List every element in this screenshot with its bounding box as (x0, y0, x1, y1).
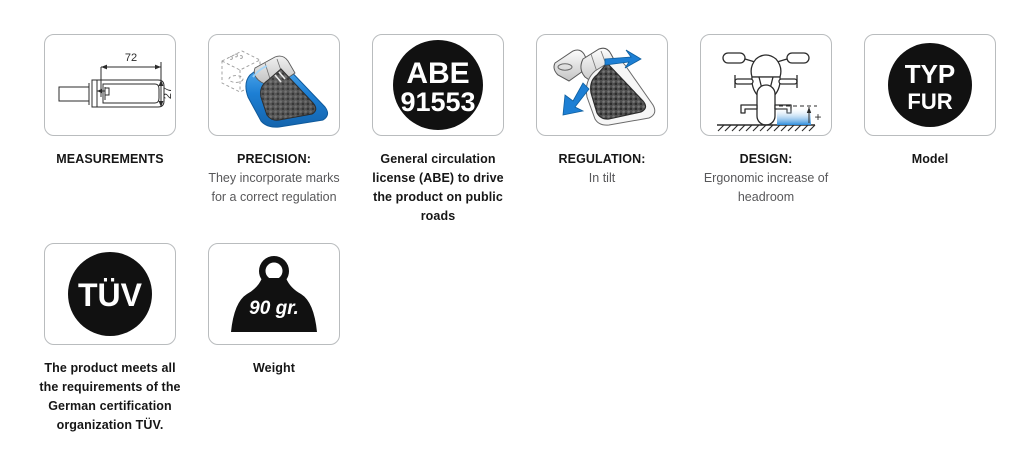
feature-card-regulation[interactable] (536, 34, 668, 136)
feature-weight: 90 gr. Weight (208, 243, 340, 435)
feature-sheet: 72 27 MEASUREMENTS (0, 0, 1024, 465)
tuv-badge-label: TÜV (78, 277, 143, 313)
caption-tuv: The product meets all the requirements o… (39, 359, 181, 435)
feature-card-weight[interactable]: 90 gr. (208, 243, 340, 345)
feature-card-abe[interactable]: ABE 91553 (372, 34, 504, 136)
feature-card-tuv[interactable]: TÜV (44, 243, 176, 345)
feature-title: Model (859, 150, 1001, 169)
caption-model: Model (859, 150, 1001, 169)
caption-abe: General circulation license (ABE) to dri… (367, 150, 509, 226)
model-badge-line1: TYP (905, 59, 956, 89)
motorcycle-rear-headroom-icon: + (701, 35, 831, 135)
caption-measurements: MEASUREMENTS (39, 150, 181, 169)
abe-badge-icon: ABE 91553 (373, 35, 503, 135)
model-badge-line2: FUR (907, 89, 952, 114)
abe-badge-line2: 91553 (400, 87, 475, 117)
feature-subtitle: In tilt (531, 169, 673, 188)
feature-measurements: 72 27 MEASUREMENTS (44, 34, 176, 226)
feature-title: Weight (203, 359, 345, 378)
feature-model: TYP FUR Model (864, 34, 996, 226)
caption-regulation: REGULATION: In tilt (531, 150, 673, 188)
feature-card-model[interactable]: TYP FUR (864, 34, 996, 136)
feature-title: MEASUREMENTS (39, 150, 181, 169)
feature-design: + DESIGN: Ergonomic increase of headroom (700, 34, 832, 226)
feature-title: The product meets all the requirements o… (39, 359, 181, 435)
feature-title: REGULATION: (531, 150, 673, 169)
feature-subtitle: Ergonomic increase of headroom (695, 169, 837, 207)
caption-precision: PRECISION: They incorporate marks for a … (203, 150, 345, 207)
feature-regulation: REGULATION: In tilt (536, 34, 668, 226)
feature-precision: PRECISION: They incorporate marks for a … (208, 34, 340, 226)
caption-design: DESIGN: Ergonomic increase of headroom (695, 150, 837, 207)
feature-subtitle: They incorporate marks for a correct reg… (203, 169, 345, 207)
weight-kettlebell-icon: 90 gr. (209, 244, 339, 344)
feature-title: General circulation license (ABE) to dri… (367, 150, 509, 226)
abe-badge-line1: ABE (406, 57, 469, 90)
feature-tuv: TÜV The product meets all the requiremen… (44, 243, 176, 435)
weight-value-label: 90 gr. (249, 298, 299, 319)
feature-abe: ABE 91553 General circulation license (A… (372, 34, 504, 226)
headroom-plus-label: + (814, 110, 821, 124)
feature-grid-row-2: TÜV The product meets all the requiremen… (44, 243, 992, 435)
feature-title: DESIGN: (695, 150, 837, 169)
feature-grid-row-1: 72 27 MEASUREMENTS (44, 34, 992, 226)
feature-card-measurements[interactable]: 72 27 (44, 34, 176, 136)
feature-title: PRECISION: (203, 150, 345, 169)
footpeg-precision-icon (209, 35, 339, 135)
feature-card-precision[interactable] (208, 34, 340, 136)
feature-card-design[interactable]: + (700, 34, 832, 136)
dimension-length-label: 72 (125, 52, 137, 64)
ruler-dimensions-icon: 72 27 (45, 35, 175, 135)
dimension-width-label: 27 (162, 87, 174, 99)
tuv-badge-icon: TÜV (45, 244, 175, 344)
typ-fur-badge-icon: TYP FUR (865, 35, 995, 135)
caption-weight: Weight (203, 359, 345, 378)
footpeg-tilt-arrows-icon (537, 35, 667, 135)
